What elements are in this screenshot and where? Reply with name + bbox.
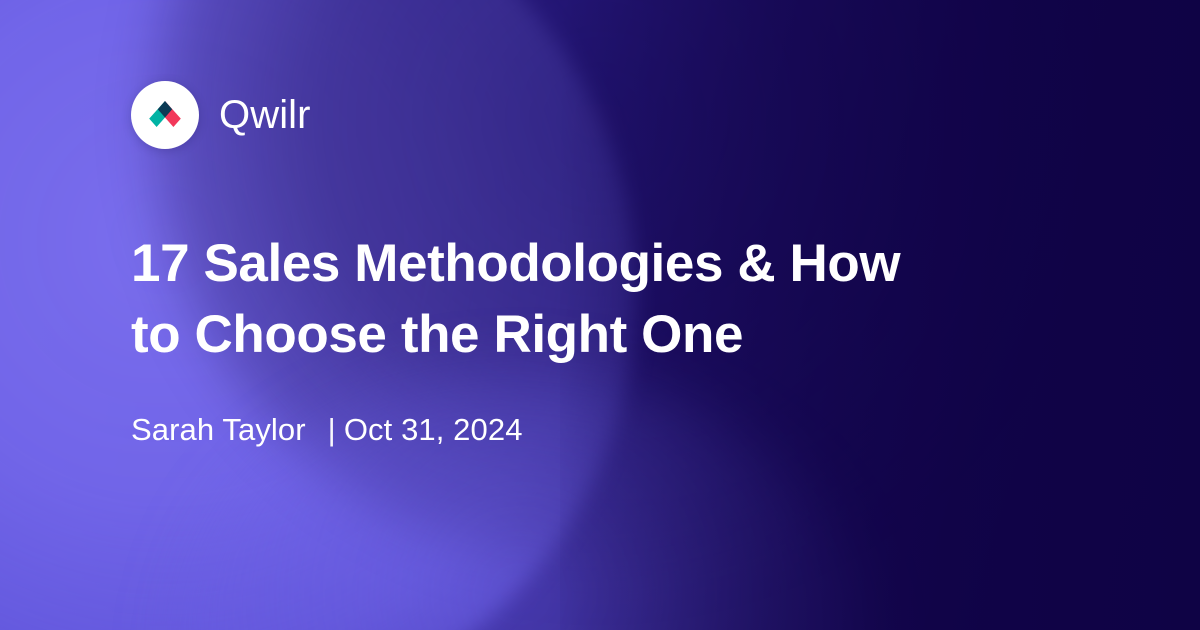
brand-lockup[interactable]: Qwilr (131, 81, 311, 149)
qwilr-chevron-mark-icon (145, 95, 185, 135)
social-share-card: Qwilr 17 Sales Methodologies & How to Ch… (0, 0, 1200, 630)
byline: Sarah Taylor | Oct 31, 2024 (131, 411, 523, 448)
card-content: Qwilr 17 Sales Methodologies & How to Ch… (0, 0, 1200, 630)
brand-logo-badge (131, 81, 199, 149)
publish-date: Oct 31, 2024 (344, 411, 523, 448)
byline-separator: | (306, 411, 344, 448)
brand-name: Qwilr (219, 95, 311, 135)
page-title: 17 Sales Methodologies & How to Choose t… (131, 228, 961, 370)
author-name: Sarah Taylor (131, 411, 306, 448)
